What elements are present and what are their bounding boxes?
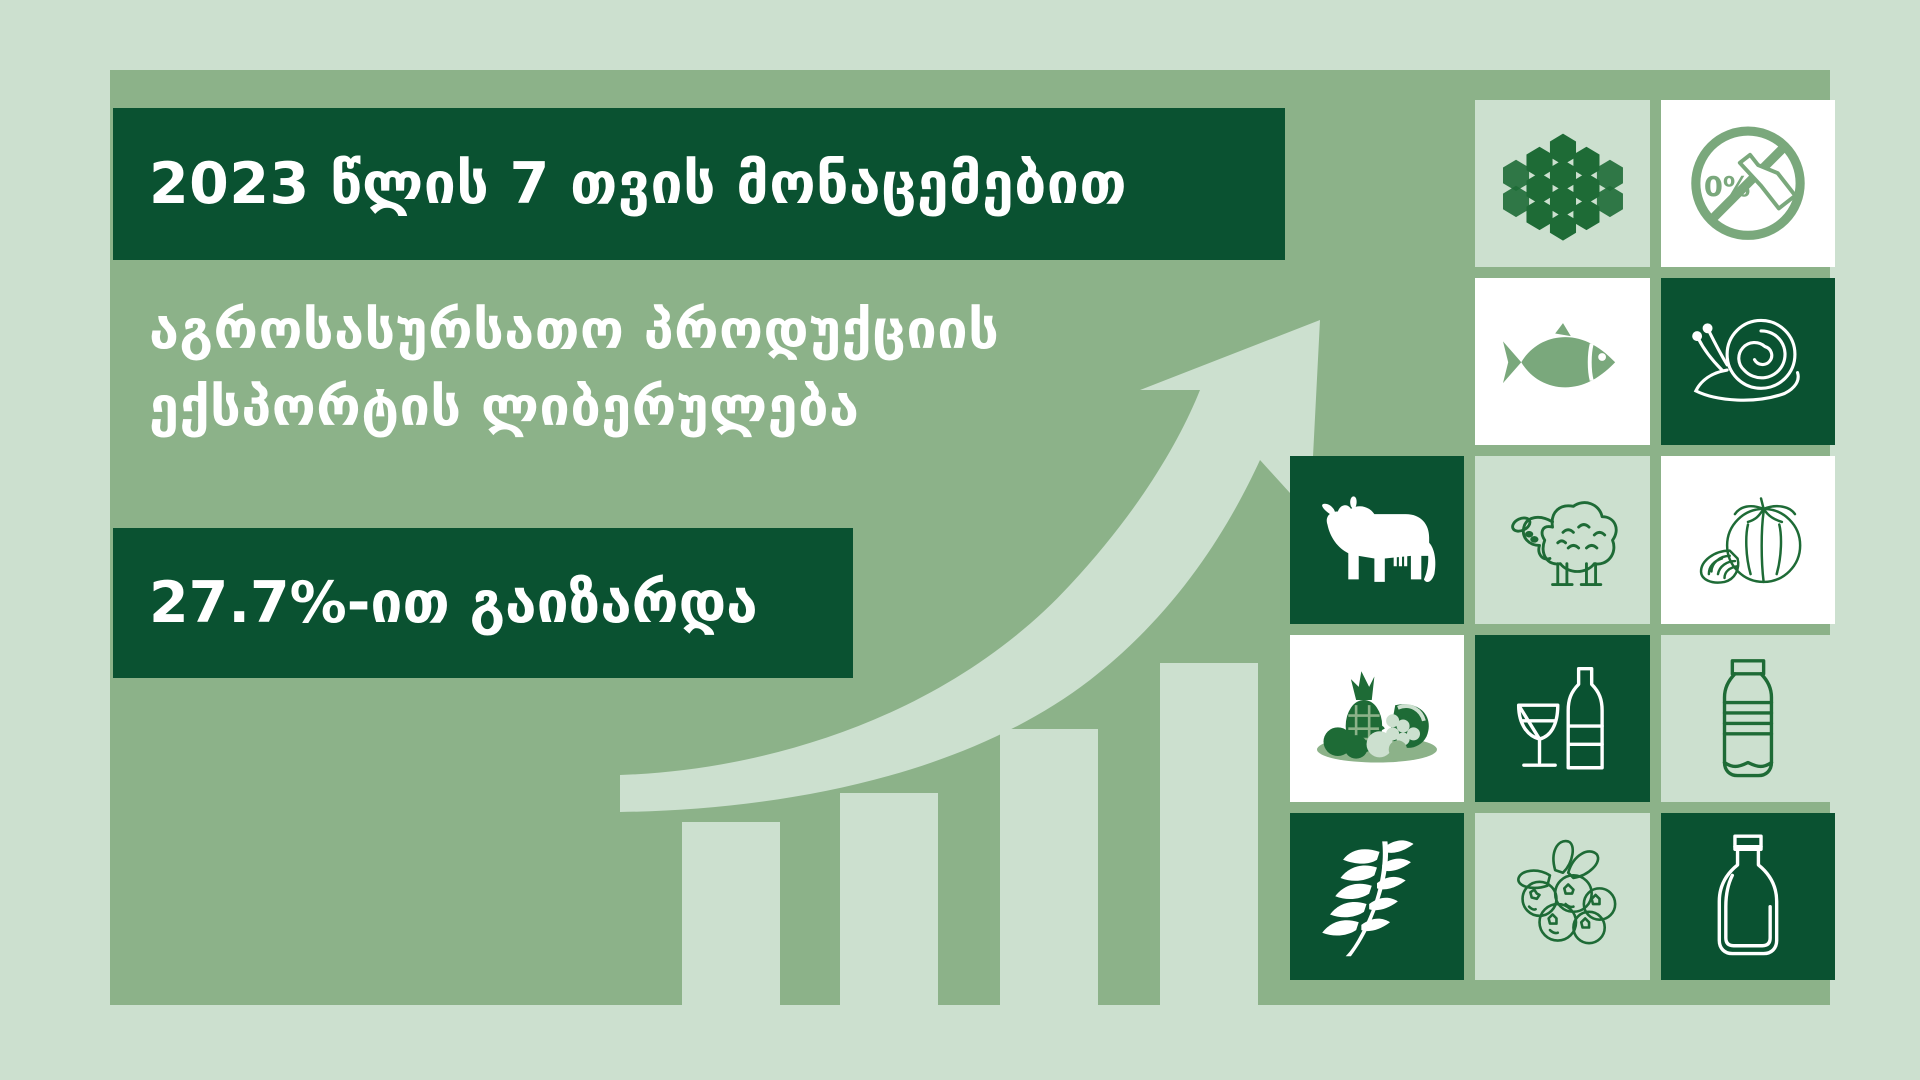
grid-cell-cow xyxy=(1290,456,1464,623)
cow-icon xyxy=(1309,475,1445,605)
stat-text: 27.7%-ით გაიზარდა xyxy=(113,575,758,632)
bar-2 xyxy=(840,793,938,1005)
grid-cell-tomato xyxy=(1661,456,1835,623)
headline-box: 2023 წლის 7 თვის მონაცემებით xyxy=(113,108,1285,260)
grid-cell-fish xyxy=(1475,278,1649,445)
product-icon-grid: 0% xyxy=(1290,100,1835,980)
headline-text: 2023 წლის 7 თვის მონაცემებით xyxy=(113,156,1127,213)
tomato-icon xyxy=(1680,475,1816,605)
grid-cell-herb xyxy=(1290,813,1464,980)
grid-cell-fruits xyxy=(1290,635,1464,802)
honeycomb-icon xyxy=(1495,118,1631,248)
grid-cell-water-bottle xyxy=(1661,635,1835,802)
subtitle-line-2: ექსპორტის ლიბერულება xyxy=(149,369,1299,446)
subtitle-line-1: აგროსასურსათო პროდუქციის xyxy=(149,292,1299,369)
bar-1 xyxy=(682,822,780,1005)
snail-icon xyxy=(1680,297,1816,427)
grid-cell-snail xyxy=(1661,278,1835,445)
wine-icon xyxy=(1495,653,1631,783)
grid-cell-empty-1 xyxy=(1290,100,1464,267)
infographic-root: 2023 წლის 7 თვის მონაცემებით აგროსასურსა… xyxy=(0,0,1920,1080)
grid-cell-empty-2 xyxy=(1290,278,1464,445)
svg-text:0%: 0% xyxy=(1704,173,1750,204)
herb-icon xyxy=(1309,831,1445,961)
bar-3 xyxy=(1000,729,1098,1005)
fruits-icon xyxy=(1309,653,1445,783)
stat-box: 27.7%-ით გაიზარდა xyxy=(113,528,853,678)
no-alcohol-icon: 0% xyxy=(1680,118,1816,248)
grid-cell-berries xyxy=(1475,813,1649,980)
water-bottle-icon xyxy=(1680,653,1816,783)
grid-cell-sheep xyxy=(1475,456,1649,623)
subtitle: აგროსასურსათო პროდუქციის ექსპორტის ლიბერ… xyxy=(149,292,1299,445)
grid-cell-wine xyxy=(1475,635,1649,802)
berries-icon xyxy=(1495,831,1631,961)
bar-4 xyxy=(1160,663,1258,1005)
grid-cell-no-alcohol: 0% xyxy=(1661,100,1835,267)
grid-cell-honey xyxy=(1475,100,1649,267)
fish-icon xyxy=(1495,297,1631,427)
grid-cell-glass-bottle xyxy=(1661,813,1835,980)
glass-bottle-icon xyxy=(1680,831,1816,961)
sheep-icon xyxy=(1495,475,1631,605)
bar-chart xyxy=(670,640,1310,1005)
